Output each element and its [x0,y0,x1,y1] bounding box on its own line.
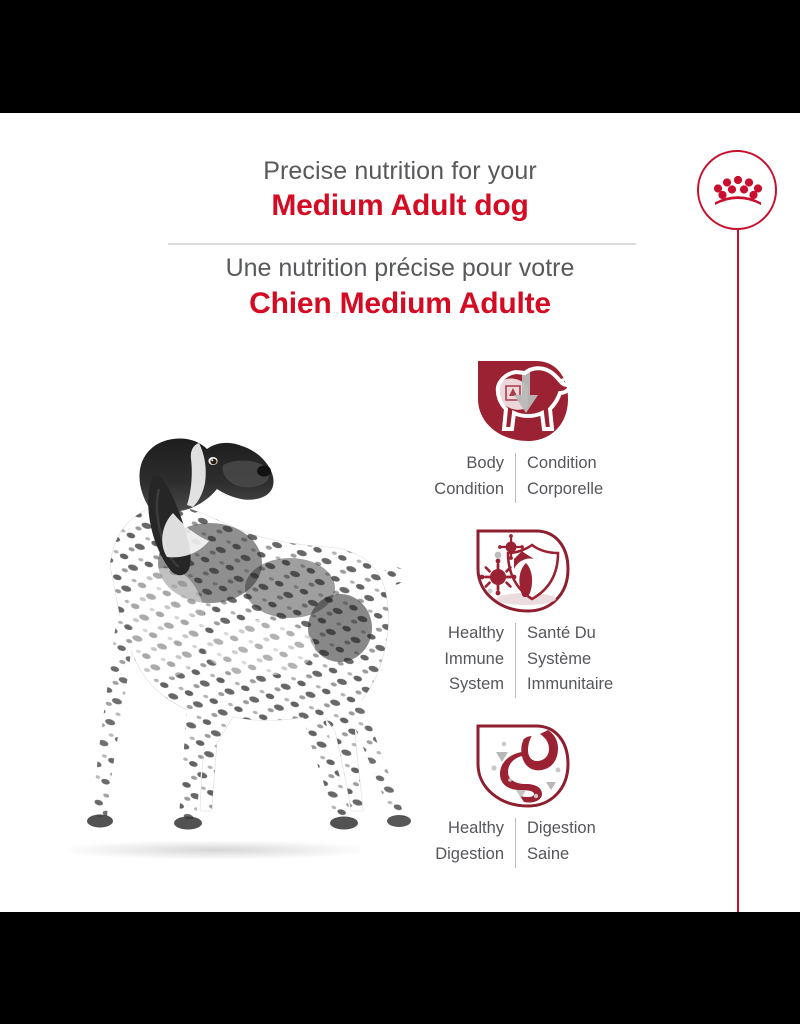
headline-fr-title: Chien Medium Adulte [0,285,800,323]
dog-ground-shadow [70,841,360,859]
headline-en-subtitle: Precise nutrition for your [0,156,800,186]
letterbox-bar-top [0,0,800,113]
benefit-label-en: Body Condition [363,451,515,502]
benefit-label-fr: Santé Du Système Immunitaire [516,621,683,698]
benefit-label-en: Healthy Digestion [363,816,515,867]
headline-en-title: Medium Adult dog [0,187,800,224]
logo-vertical-rule [737,230,739,912]
benefit-label-fr: Digestion Saine [516,816,683,867]
immune-shield-icon [470,525,576,617]
headline-fr-subtitle: Une nutrition précise pour votre [0,253,800,284]
headline-french: Une nutrition précise pour votre Chien M… [0,253,800,323]
benefit-labels: Healthy Immune System Santé Du Système I… [363,621,683,698]
headline-divider [168,243,636,245]
benefit-labels: Healthy Digestion Digestion Saine [363,816,683,868]
letterbox-bar-bottom [0,912,800,1024]
digestion-stomach-icon [470,720,576,812]
product-benefit-poster: Precise nutrition for your Medium Adult … [0,0,800,1024]
benefit-label-fr: Condition Corporelle [516,451,683,502]
poster-canvas: Precise nutrition for your Medium Adult … [0,113,800,912]
benefit-labels: Body Condition Condition Corporelle [363,451,683,503]
dog-body-condition-icon [470,355,576,447]
benefit-label-en: Healthy Immune System [363,621,515,698]
headline-english: Precise nutrition for your Medium Adult … [0,156,800,224]
